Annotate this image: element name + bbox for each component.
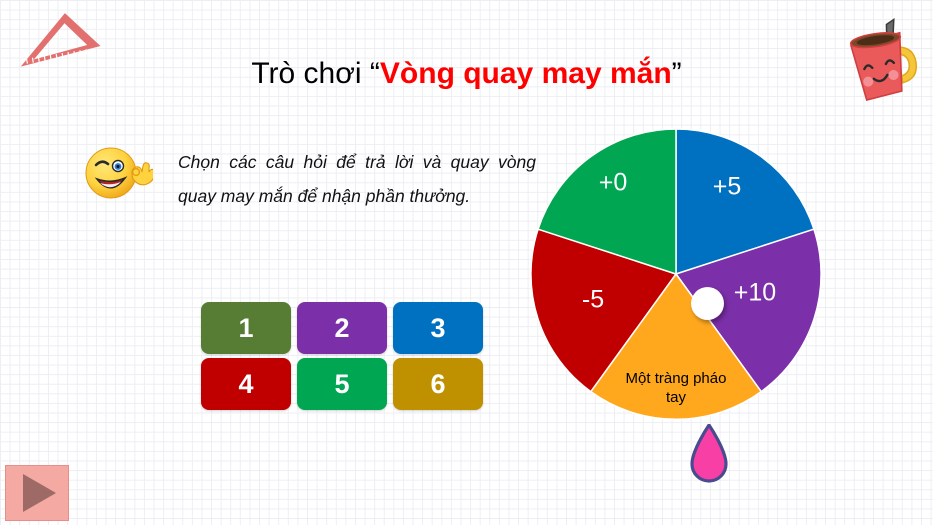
question-button-6-label: 6 <box>430 369 445 400</box>
question-button-5[interactable]: 5 <box>297 358 387 410</box>
question-button-4[interactable]: 4 <box>201 358 291 410</box>
question-number-pad: 1 2 3 4 5 6 <box>201 302 493 410</box>
title-prefix: Trò chơi “ <box>251 57 380 90</box>
wheel-label-clap-line1: Một tràng pháo <box>626 370 727 387</box>
question-button-2-label: 2 <box>334 313 349 344</box>
question-button-5-label: 5 <box>334 369 349 400</box>
title-highlight: Vòng quay may mắn <box>380 57 672 90</box>
wheel-hub-knob[interactable] <box>691 287 724 320</box>
wheel-pointer-teardrop-icon <box>683 424 735 490</box>
instruction-text: Chọn các câu hỏi để trả lời và quay vòng… <box>178 145 536 213</box>
title-suffix: ” <box>672 57 682 90</box>
question-button-4-label: 4 <box>238 369 253 400</box>
lucky-wheel[interactable]: +5 +10 -5 +0 Một tràng pháo tay <box>531 129 821 419</box>
question-button-2[interactable]: 2 <box>297 302 387 354</box>
wheel-label-minus5: -5 <box>582 286 604 314</box>
wheel-label-plus5: +5 <box>713 173 742 201</box>
page-title: Trò chơi “Vòng quay may mắn” <box>0 57 933 91</box>
wheel-label-plus10: +10 <box>734 279 776 307</box>
slide-canvas: Trò chơi “Vòng quay may mắn” <box>0 0 933 525</box>
play-triangle-icon <box>23 474 56 512</box>
winking-ok-emoji-icon <box>83 139 153 209</box>
question-button-6[interactable]: 6 <box>393 358 483 410</box>
next-slide-button[interactable] <box>5 465 69 521</box>
question-button-1-label: 1 <box>238 313 253 344</box>
wheel-label-plus0: +0 <box>599 169 628 197</box>
question-button-3[interactable]: 3 <box>393 302 483 354</box>
wheel-label-clap-line2: tay <box>666 389 687 406</box>
question-button-1[interactable]: 1 <box>201 302 291 354</box>
question-button-3-label: 3 <box>430 313 445 344</box>
